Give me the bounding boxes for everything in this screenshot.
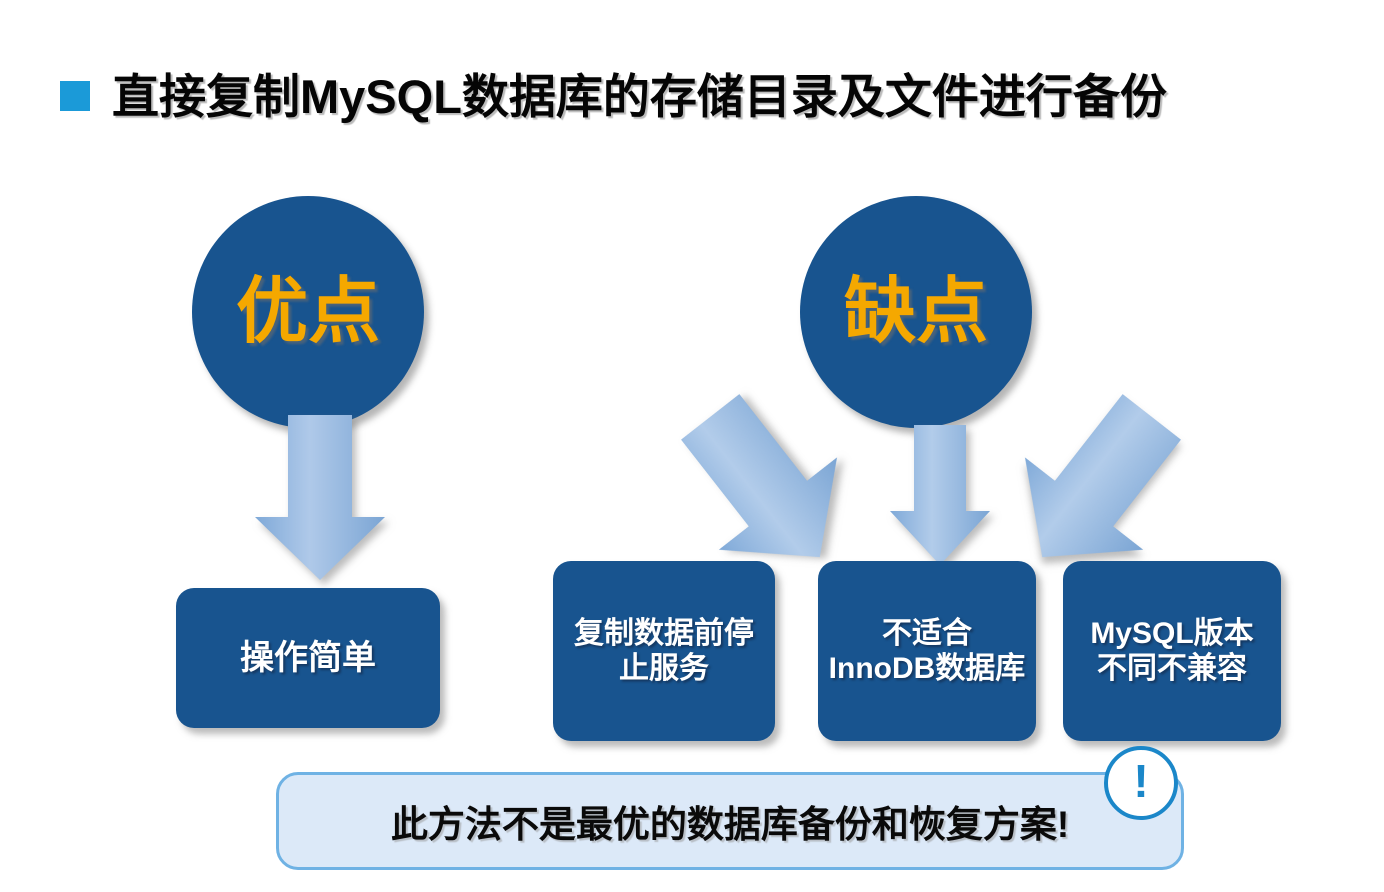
node-circle-cons[interactable]: 缺点 (800, 196, 1032, 428)
page-title: 直接复制MySQL数据库的存储目录及文件进行备份 (112, 58, 1167, 127)
slide-title-row: 直接复制MySQL数据库的存储目录及文件进行备份 (60, 58, 1167, 127)
arrow-down-icon-pros (255, 415, 385, 580)
arrow-down-icon-cons-mid (890, 425, 990, 565)
node-box-cons-2[interactable]: 不适合 InnoDB数据库 (818, 561, 1036, 741)
footer-note-text: 此方法不是最优的数据库备份和恢复方案! (391, 794, 1069, 848)
footer-note-banner: 此方法不是最优的数据库备份和恢复方案! (276, 772, 1184, 870)
exclamation-circle-icon: ! (1104, 746, 1178, 820)
node-box-cons-1[interactable]: 复制数据前停止服务 (553, 561, 775, 741)
node-box-cons-2-label: 不适合 InnoDB数据库 (819, 616, 1036, 687)
node-circle-pros[interactable]: 优点 (192, 196, 424, 428)
slide-canvas: 直接复制MySQL数据库的存储目录及文件进行备份 优点 缺点 (0, 0, 1384, 892)
exclamation-glyph: ! (1133, 758, 1148, 804)
node-circle-cons-label: 缺点 (844, 276, 988, 348)
square-bullet-icon (60, 81, 90, 111)
node-circle-pros-label: 优点 (236, 276, 380, 348)
node-box-cons-3-label: MySQL版本 不同不兼容 (1080, 616, 1263, 687)
node-box-cons-3[interactable]: MySQL版本 不同不兼容 (1063, 561, 1281, 741)
node-box-cons-1-label: 复制数据前停止服务 (553, 616, 775, 687)
node-box-pros-1[interactable]: 操作简单 (176, 588, 440, 728)
node-box-pros-1-label: 操作简单 (230, 638, 386, 678)
